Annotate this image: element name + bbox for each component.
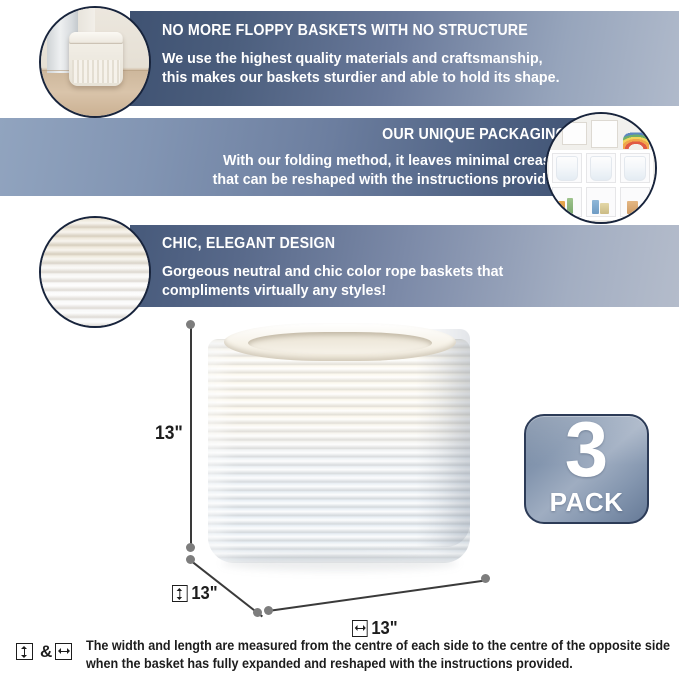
- feature-body-1: We use the highest quality materials and…: [162, 49, 560, 87]
- ampersand-label: &: [40, 642, 52, 662]
- shelf-cell: [620, 187, 650, 217]
- feature-body-2: With our folding method, it leaves minim…: [213, 151, 567, 189]
- book-shape: [592, 200, 599, 214]
- book-shape: [600, 203, 608, 214]
- storage-basket-shape: [590, 156, 612, 181]
- shelf-cell: [552, 153, 582, 183]
- width-guide-dot-start: [264, 606, 273, 615]
- feature-title-3: CHIC, ELEGANT DESIGN: [162, 236, 335, 252]
- measurement-footnote: & The width and length are measured from…: [16, 640, 671, 670]
- shelf-cell: [586, 153, 616, 183]
- feature-body-1-line2: this makes our baskets sturdier and able…: [162, 68, 560, 87]
- infographic-canvas: NO MORE FLOPPY BASKETS WITH NO STRUCTURE…: [0, 0, 679, 673]
- cube-shelf-shape: [549, 150, 653, 220]
- feature-banner-no-floppy-baskets: NO MORE FLOPPY BASKETS WITH NO STRUCTURE…: [130, 11, 679, 106]
- height-dimension-label: 13": [155, 423, 183, 445]
- vertical-arrow-icon: [16, 643, 33, 660]
- feature-body-1-line1: We use the highest quality materials and…: [162, 49, 560, 68]
- wall-frames-group: [562, 120, 625, 148]
- depth-dimension-value: 13": [191, 583, 217, 603]
- feature-photo-cube-shelf: [545, 112, 657, 224]
- height-guide-line: [190, 325, 192, 547]
- toy-shape: [556, 201, 565, 214]
- feature-body-3-line2: compliments virtually any styles!: [162, 281, 503, 300]
- width-guide-line: [268, 579, 488, 611]
- basket-shape: [69, 32, 123, 86]
- toy-shape: [567, 198, 573, 214]
- vertical-arrow-icon: [172, 585, 188, 602]
- storage-basket-shape: [556, 156, 578, 181]
- three-pack-badge: 3 PACK: [524, 414, 649, 524]
- feature-title-2: OUR UNIQUE PACKAGING: [382, 127, 567, 143]
- height-guide-dot-bottom: [186, 543, 195, 552]
- basket-opening-shape: [248, 332, 432, 354]
- basket-drop-shadow: [222, 555, 458, 571]
- badge-word: PACK: [526, 489, 647, 515]
- badge-count: 3: [526, 414, 647, 488]
- feature-title-1: NO MORE FLOPPY BASKETS WITH NO STRUCTURE: [162, 23, 528, 39]
- feature-photo-basket-on-floor: [39, 6, 151, 118]
- depth-guide-dot-end: [253, 608, 262, 617]
- feature-body-2-line1: With our folding method, it leaves minim…: [213, 151, 567, 170]
- height-guide-dot-top: [186, 320, 195, 329]
- basket-texture-shape: [72, 60, 120, 83]
- feature-banner-chic-elegant-design: CHIC, ELEGANT DESIGN Gorgeous neutral an…: [130, 225, 679, 307]
- width-dimension-value: 13": [371, 618, 397, 638]
- feature-body-3: Gorgeous neutral and chic color rope bas…: [162, 262, 503, 300]
- horizontal-arrow-icon: [352, 620, 368, 637]
- toy-shape: [627, 201, 638, 214]
- picture-frame-shape: [562, 122, 587, 146]
- shelf-grid: [549, 150, 653, 220]
- feature-body-2-line2: that can be reshaped with the instructio…: [213, 170, 567, 189]
- footnote-line1: The width and length are measured from t…: [86, 637, 670, 655]
- footnote-text: The width and length are measured from t…: [86, 637, 670, 673]
- width-dimension-label: 13": [352, 618, 398, 639]
- feature-banner-unique-packaging: OUR UNIQUE PACKAGING With our folding me…: [0, 118, 595, 196]
- feature-body-3-line1: Gorgeous neutral and chic color rope bas…: [162, 262, 503, 281]
- footnote-icons: &: [16, 642, 76, 662]
- basket-rim-shape: [69, 32, 123, 44]
- product-basket-image: [208, 323, 470, 563]
- shelf-cell: [552, 187, 582, 217]
- depth-dimension-label: 13": [172, 583, 218, 604]
- width-guide-dot-end: [481, 574, 490, 583]
- depth-guide-dot-start: [186, 555, 195, 564]
- horizontal-arrow-icon: [55, 643, 72, 660]
- basket-body-shape: [208, 339, 470, 563]
- footnote-line2: when the basket has fully expanded and r…: [86, 655, 670, 673]
- rainbow-toy-shape: [623, 131, 649, 148]
- shelf-cell: [586, 187, 616, 217]
- storage-basket-shape: [624, 156, 646, 181]
- shelf-cell: [620, 153, 650, 183]
- picture-frame-shape: [591, 120, 618, 148]
